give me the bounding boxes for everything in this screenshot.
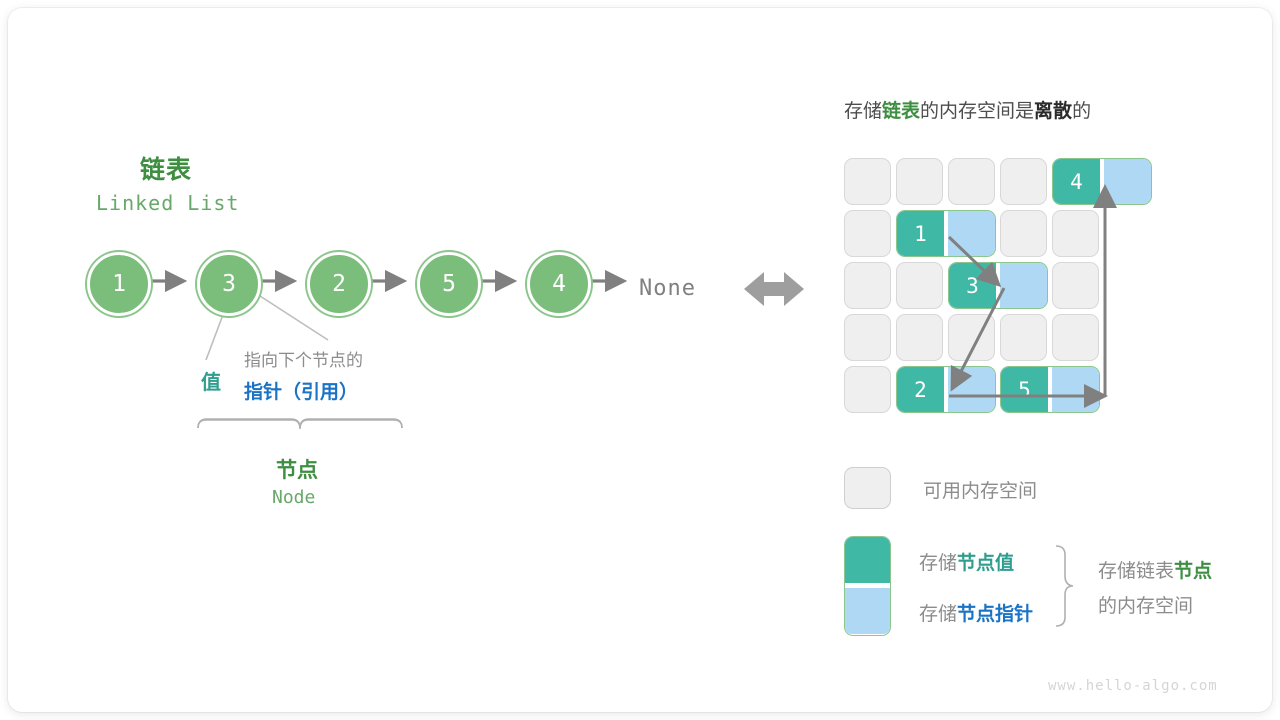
watermark: www.hello-algo.com xyxy=(1048,678,1218,694)
legend-brace-line1: 存储链表节点 xyxy=(1098,556,1212,583)
legend-brace xyxy=(8,8,1272,712)
legend-brace-line2: 的内存空间 xyxy=(1098,591,1193,618)
legend-brace-line1-prefix: 存储链表 xyxy=(1098,561,1174,582)
legend-brace-line1-bold: 节点 xyxy=(1174,561,1212,582)
diagram-card: 链表 Linked List 1 3 2 xyxy=(8,8,1272,712)
